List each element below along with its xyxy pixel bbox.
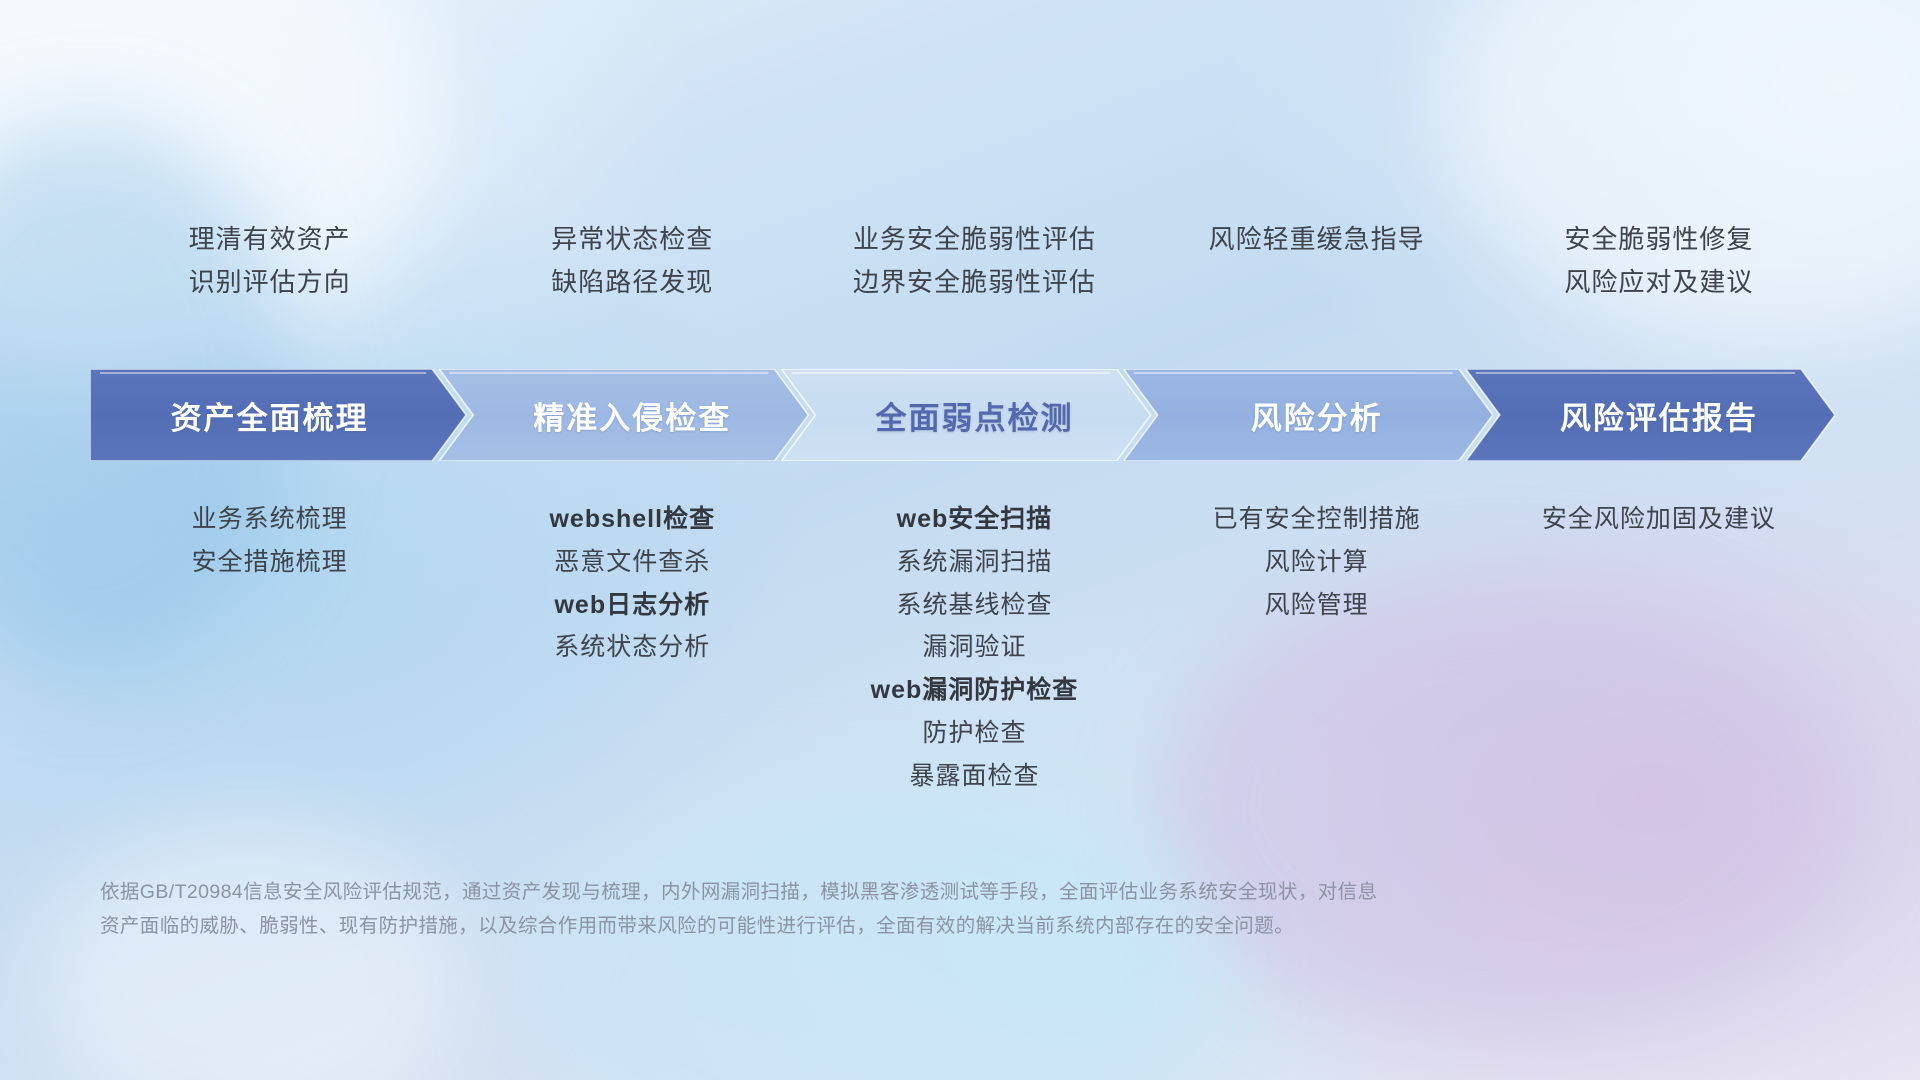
list-item[interactable]: 安全措施梳理	[192, 548, 348, 577]
footer-line-2: 资产面临的威胁、脆弱性、现有防护措施，以及综合作用而带来风险的可能性进行评估，全…	[100, 909, 1700, 943]
footer-description: 依据GB/T20984信息安全风险评估规范，通过资产发现与梳理，内外网漏洞扫描，…	[100, 875, 1700, 943]
list-item[interactable]: 风险计算	[1265, 548, 1369, 577]
list-item[interactable]: web漏洞防护检查	[871, 676, 1079, 705]
stage-top-notes-row: 理清有效资产识别评估方向异常状态检查缺陷路径发现业务安全脆弱性评估边界安全脆弱性…	[96, 225, 1826, 335]
list-item[interactable]: 漏洞验证	[922, 633, 1026, 662]
slide-canvas: 理清有效资产识别评估方向异常状态检查缺陷路径发现业务安全脆弱性评估边界安全脆弱性…	[0, 0, 1920, 1080]
list-item[interactable]: web日志分析	[554, 591, 710, 620]
arrow-title-text: 风险评估报告	[1560, 393, 1758, 438]
top-note: 边界安全脆弱性评估	[853, 268, 1096, 297]
arrow-title-text: 风险分析	[1251, 393, 1383, 438]
process-arrow-label-weakness-detection[interactable]: 全面弱点检测	[798, 369, 1150, 461]
items-weakness-detection: web安全扫描系统漏洞扫描系统基线检查漏洞验证web漏洞防护检查防护检查暴露面检…	[798, 505, 1150, 790]
list-item[interactable]: 系统基线检查	[896, 591, 1052, 620]
list-item[interactable]: 系统状态分析	[554, 633, 710, 662]
top-note: 识别评估方向	[189, 268, 351, 297]
list-item[interactable]: 安全风险加固及建议	[1542, 505, 1776, 534]
process-arrow-label-risk-report[interactable]: 风险评估报告	[1483, 369, 1835, 461]
top-note: 安全脆弱性修复	[1564, 225, 1753, 254]
items-asset-inventory: 业务系统梳理安全措施梳理	[90, 505, 449, 577]
top-note: 缺陷路径发现	[551, 268, 713, 297]
process-arrow-label-intrusion-check[interactable]: 精准入侵检查	[456, 369, 808, 461]
process-arrow-label-risk-analysis[interactable]: 风险分析	[1141, 369, 1493, 461]
top-note: 风险应对及建议	[1564, 268, 1753, 297]
list-item[interactable]: webshell检查	[549, 505, 715, 534]
items-risk-report: 安全风险加固及建议	[1483, 505, 1835, 534]
top-notes-weakness-detection: 业务安全脆弱性评估边界安全脆弱性评估	[798, 225, 1150, 296]
top-notes-risk-analysis: 风险轻重缓急指导	[1141, 225, 1493, 254]
items-risk-analysis: 已有安全控制措施风险计算风险管理	[1141, 505, 1493, 619]
slide-content: 理清有效资产识别评估方向异常状态检查缺陷路径发现业务安全脆弱性评估边界安全脆弱性…	[0, 0, 1920, 1080]
items-intrusion-check: webshell检查恶意文件查杀web日志分析系统状态分析	[456, 505, 808, 662]
list-item[interactable]: 业务系统梳理	[192, 505, 348, 534]
arrow-title-text: 全面弱点检测	[875, 393, 1073, 438]
list-item[interactable]: 系统漏洞扫描	[896, 548, 1052, 577]
list-item[interactable]: 已有安全控制措施	[1213, 505, 1421, 534]
list-item[interactable]: 恶意文件查杀	[554, 548, 710, 577]
list-item[interactable]: 暴露面检查	[909, 762, 1039, 791]
list-item[interactable]: 防护检查	[922, 719, 1026, 748]
top-notes-intrusion-check: 异常状态检查缺陷路径发现	[456, 225, 808, 296]
arrow-title-text: 精准入侵检查	[533, 393, 731, 438]
top-note: 异常状态检查	[551, 225, 713, 254]
process-arrow-label-asset-inventory[interactable]: 资产全面梳理	[90, 369, 449, 461]
top-notes-risk-report: 安全脆弱性修复风险应对及建议	[1483, 225, 1835, 296]
top-note: 理清有效资产	[189, 225, 351, 254]
arrow-title-text: 资产全面梳理	[171, 393, 369, 438]
list-item[interactable]: web安全扫描	[897, 505, 1053, 534]
top-note: 业务安全脆弱性评估	[853, 225, 1096, 254]
top-notes-asset-inventory: 理清有效资产识别评估方向	[90, 225, 449, 296]
list-item[interactable]: 风险管理	[1265, 591, 1369, 620]
footer-line-1: 依据GB/T20984信息安全风险评估规范，通过资产发现与梳理，内外网漏洞扫描，…	[100, 875, 1700, 909]
top-note: 风险轻重缓急指导	[1209, 225, 1425, 254]
